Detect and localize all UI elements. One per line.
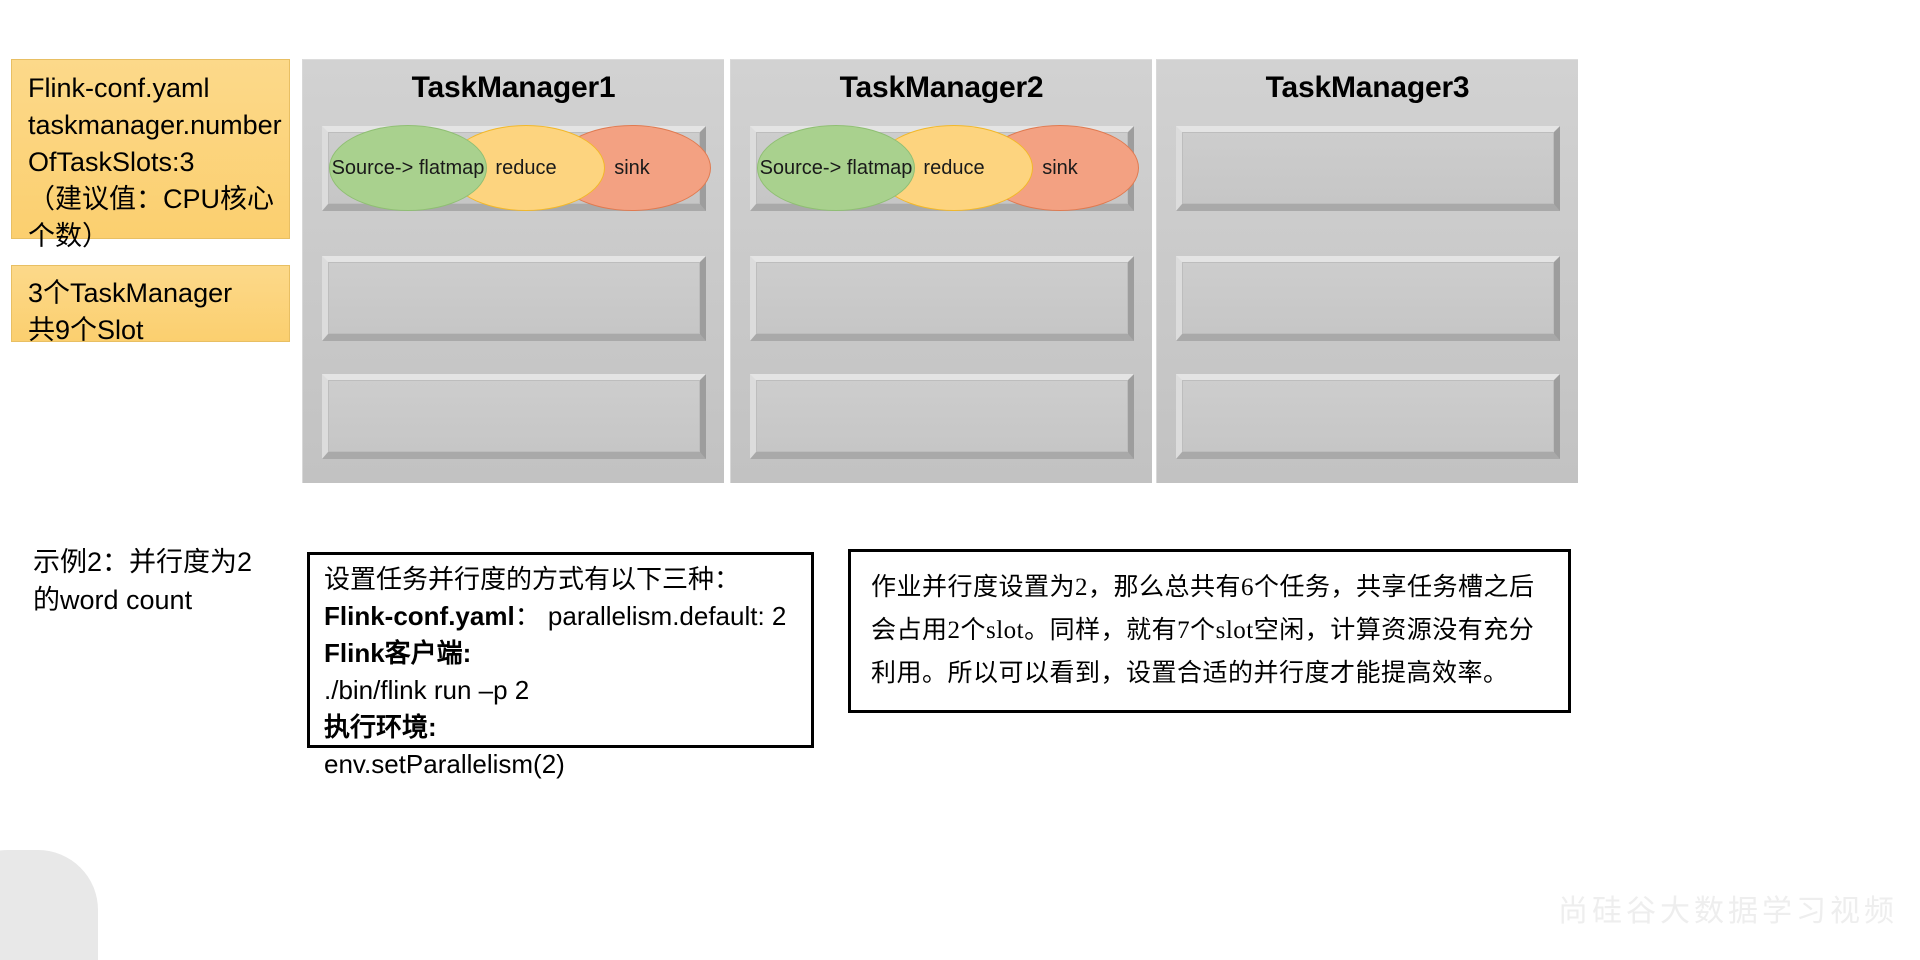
task-slot[interactable] xyxy=(1176,126,1560,211)
operator-chain: Source-> flatmap reduce sink xyxy=(325,125,705,213)
parallelism-line-1-key: Flink-conf.yaml xyxy=(324,601,515,631)
note-config-yaml: Flink-conf.yaml taskmanager.number OfTas… xyxy=(11,59,290,239)
explanation-line-1: 会占用2个slot。同样，就有7个slot空闲，计算资源没有充分 xyxy=(871,609,1550,652)
task-slot-inner xyxy=(1182,380,1554,452)
parallelism-line-0: 设置任务并行度的方式有以下三种： xyxy=(324,561,811,598)
task-slot[interactable] xyxy=(1176,256,1560,341)
taskmanager-panel-2: TaskManager2 Source-> flatmap reduce sin… xyxy=(730,59,1152,483)
parallelism-line-4: 执行环境: xyxy=(324,709,811,746)
task-slot[interactable] xyxy=(1176,374,1560,459)
task-slot-inner xyxy=(328,262,700,334)
task-slot[interactable] xyxy=(750,374,1134,459)
parallelism-line-1: Flink-conf.yaml： parallelism.default: 2 xyxy=(324,598,811,635)
explanation-box: 作业并行度设置为2，那么总共有6个任务，共享任务槽之后 会占用2个slot。同样… xyxy=(848,549,1571,713)
parallelism-line-3: ./bin/flink run –p 2 xyxy=(324,672,811,709)
note-slot-summary: 3个TaskManager 共9个Slot xyxy=(11,265,290,342)
watermark-text: 尚硅谷大数据学习视频 xyxy=(1558,886,1898,930)
taskmanager-title: TaskManager2 xyxy=(731,60,1152,105)
task-slot[interactable]: Source-> flatmap reduce sink xyxy=(322,126,706,211)
operator-source-flatmap: Source-> flatmap xyxy=(757,125,915,211)
watermark-corner-shape xyxy=(0,850,98,960)
taskmanager-title: TaskManager3 xyxy=(1157,60,1578,105)
task-slot-inner: Source-> flatmap reduce sink xyxy=(756,132,1128,204)
parallelism-line-1-value: ： parallelism.default: 2 xyxy=(515,601,787,631)
parallelism-line-5: env.setParallelism(2) xyxy=(324,746,811,783)
operator-source-flatmap: Source-> flatmap xyxy=(329,125,487,211)
task-slot[interactable] xyxy=(750,256,1134,341)
task-slot[interactable]: Source-> flatmap reduce sink xyxy=(750,126,1134,211)
example-caption: 示例2：并行度为2 的word count xyxy=(33,543,293,619)
task-slot[interactable] xyxy=(322,374,706,459)
explanation-line-0: 作业并行度设置为2，那么总共有6个任务，共享任务槽之后 xyxy=(871,566,1550,609)
task-slot-inner xyxy=(756,262,1128,334)
task-slot-inner: Source-> flatmap reduce sink xyxy=(328,132,700,204)
taskmanager-panel-1: TaskManager1 Source-> flatmap reduce sin… xyxy=(302,59,724,483)
operator-chain: Source-> flatmap reduce sink xyxy=(753,125,1133,213)
explanation-line-2: 利用。所以可以看到，设置合适的并行度才能提高效率。 xyxy=(871,652,1550,695)
task-slot-inner xyxy=(1182,132,1554,204)
task-slot[interactable] xyxy=(322,256,706,341)
taskmanager-panel-3: TaskManager3 xyxy=(1156,59,1578,483)
task-slot-inner xyxy=(328,380,700,452)
parallelism-line-2: Flink客户端: xyxy=(324,635,811,672)
task-slot-inner xyxy=(1182,262,1554,334)
parallelism-settings-box: 设置任务并行度的方式有以下三种： Flink-conf.yaml： parall… xyxy=(307,552,814,748)
task-slot-inner xyxy=(756,380,1128,452)
taskmanager-title: TaskManager1 xyxy=(303,60,724,105)
